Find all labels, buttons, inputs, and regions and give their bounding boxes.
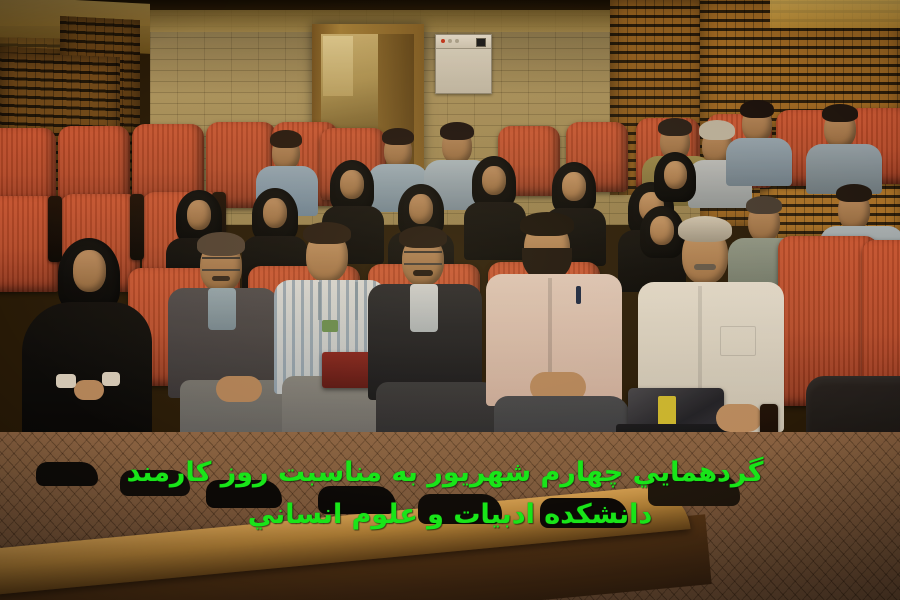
photograph: گردهمايي چهارم شهريور به مناسبت روز كارم… (0, 0, 900, 600)
face (664, 161, 687, 189)
shoe (120, 470, 190, 496)
hair (440, 122, 474, 140)
hair (382, 128, 414, 145)
hand (716, 404, 762, 432)
shoe (318, 486, 396, 514)
torso (464, 202, 526, 260)
indicator-led-2 (455, 39, 459, 43)
face (73, 250, 106, 292)
sleeve-cuff (102, 372, 120, 386)
hair (822, 104, 858, 122)
seat-armrest (48, 196, 62, 262)
ceiling-light-right (770, 0, 900, 28)
face (187, 200, 211, 230)
hair (836, 184, 872, 202)
lanyard (318, 282, 358, 320)
sleeve-cuff (56, 374, 76, 388)
badge (322, 320, 338, 332)
shirt-collar (208, 288, 236, 330)
glasses-icon (202, 257, 240, 271)
hair (740, 100, 774, 118)
hair (520, 212, 574, 236)
grey-hair (678, 216, 732, 242)
face (482, 166, 506, 195)
face (263, 198, 287, 228)
hair (303, 222, 351, 244)
face (650, 216, 674, 245)
seat-armrest (130, 194, 144, 260)
hair (658, 118, 692, 136)
pen (576, 286, 581, 304)
shoe (206, 480, 282, 508)
hand (74, 380, 104, 400)
mustache (413, 270, 433, 276)
face (340, 170, 364, 199)
mustache (212, 276, 230, 281)
shirt-pocket (720, 326, 756, 356)
indicator-led-1 (448, 39, 452, 43)
face (409, 194, 433, 224)
torso (726, 138, 792, 186)
shoe (418, 494, 502, 524)
shoe (540, 498, 628, 528)
indicator-led-red (441, 39, 445, 43)
glasses-icon (404, 251, 442, 265)
hair (399, 226, 447, 248)
hair (746, 196, 782, 214)
wall-control-panel (435, 34, 492, 94)
face (562, 172, 586, 201)
control-panel-socket (476, 38, 486, 47)
hands-clasped (216, 376, 262, 402)
doorway-interior-light (323, 36, 353, 96)
shoe (36, 462, 98, 486)
hair (197, 232, 245, 256)
hair (270, 130, 302, 148)
shoe (648, 474, 740, 506)
hair (699, 120, 735, 140)
mustache (694, 264, 716, 270)
shirt-collar (410, 284, 438, 332)
